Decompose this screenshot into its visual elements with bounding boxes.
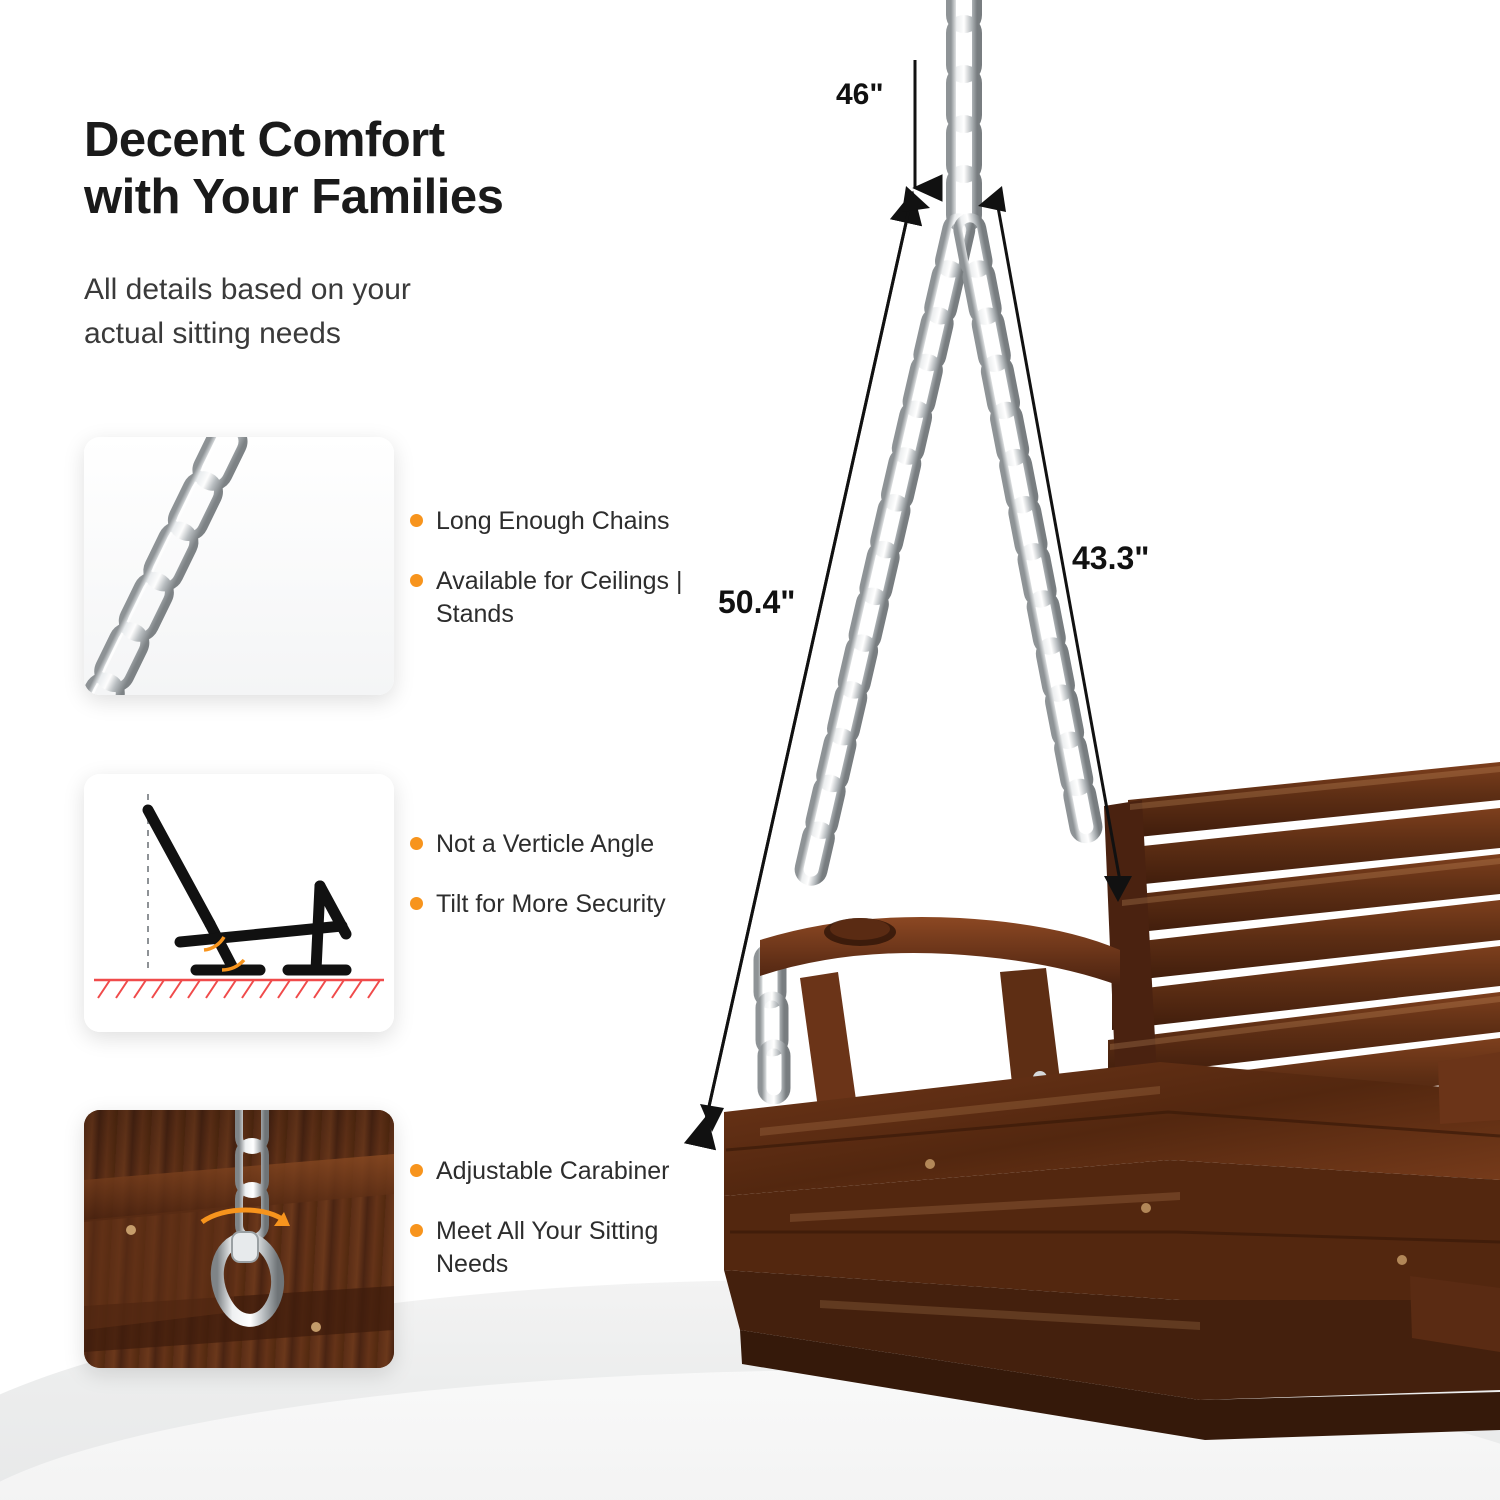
arm-support-front: [800, 972, 856, 1108]
screw-icon: [1141, 1203, 1151, 1213]
product-photo-and-dimensions: [0, 0, 1500, 1500]
screw-icon: [1397, 1255, 1407, 1265]
product-infographic: Decent Comfort with Your Families All de…: [0, 0, 1500, 1500]
swing-seat: [724, 1062, 1500, 1440]
chain-top: [951, 0, 977, 228]
chain-right: [956, 216, 1100, 841]
dimension-label-right-span: 43.3": [1072, 540, 1149, 577]
screw-icon: [925, 1159, 935, 1169]
dimension-label-left-span: 50.4": [718, 584, 795, 621]
dimension-label-top-chain: 46": [836, 78, 884, 112]
